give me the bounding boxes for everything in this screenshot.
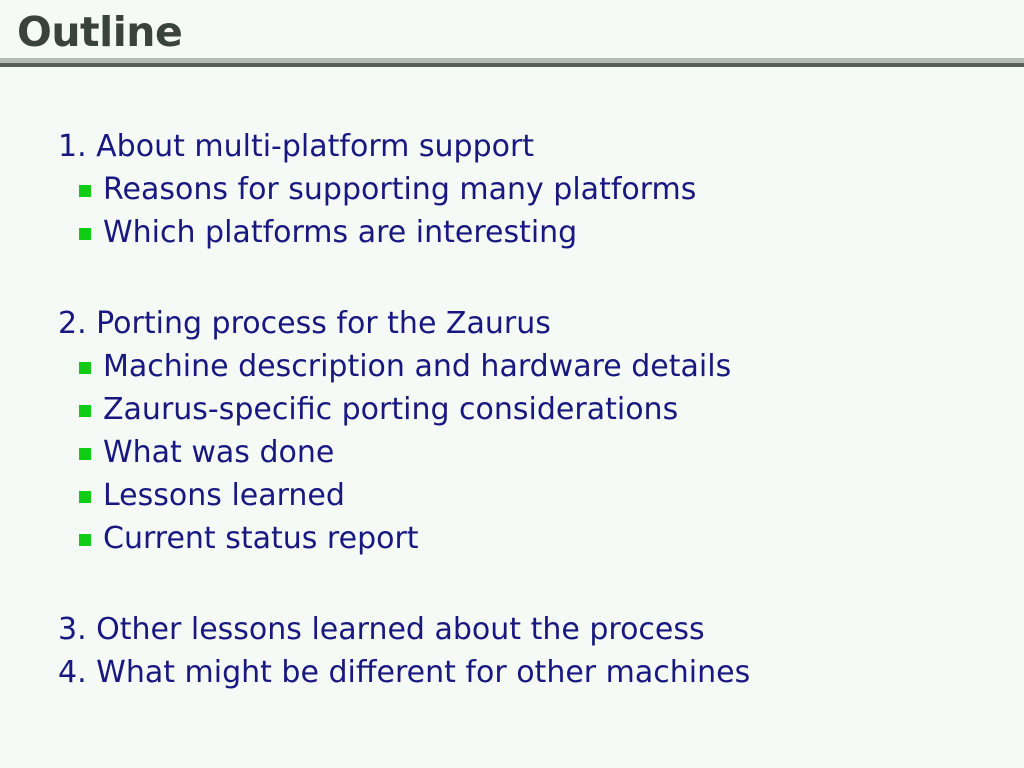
- outline-row: 2. Porting process for the Zaurus: [0, 305, 1024, 348]
- outline-subitem-2-1: Machine description and hardware details: [79, 348, 731, 386]
- outline-row: 4. What might be different for other mac…: [0, 654, 1024, 697]
- outline-subitem-label: Current status report: [103, 520, 419, 558]
- square-bullet-icon: [79, 185, 91, 197]
- outline-row: Which platforms are interesting: [0, 214, 1024, 257]
- square-bullet-icon: [79, 491, 91, 503]
- outline-item-1: 1. About multi-platform support: [58, 128, 534, 166]
- outline-row: Reasons for supporting many platforms: [0, 171, 1024, 214]
- outline-row: 3. Other lessons learned about the proce…: [0, 611, 1024, 654]
- outline-subitem-2-5: Current status report: [79, 520, 419, 558]
- outline-row: Lessons learned: [0, 477, 1024, 520]
- square-bullet-icon: [79, 534, 91, 546]
- square-bullet-icon: [79, 362, 91, 374]
- square-bullet-icon: [79, 448, 91, 460]
- slide: Outline 1. About multi-platform support …: [0, 0, 1024, 768]
- outline-row: Current status report: [0, 520, 1024, 563]
- outline-subitem-label: Zaurus-specific porting considerations: [103, 391, 678, 429]
- divider-dark-band: [0, 63, 1024, 67]
- outline-item-4: 4. What might be different for other mac…: [58, 654, 750, 692]
- section-gap: [0, 563, 1024, 611]
- outline-row: Zaurus-specific porting considerations: [0, 391, 1024, 434]
- outline-row: Machine description and hardware details: [0, 348, 1024, 391]
- square-bullet-icon: [79, 228, 91, 240]
- page-title: Outline: [17, 8, 182, 56]
- outline-subitem-label: Machine description and hardware details: [103, 348, 731, 386]
- outline-list: 1. About multi-platform support Reasons …: [0, 128, 1024, 697]
- outline-row: What was done: [0, 434, 1024, 477]
- outline-subitem-1-1: Reasons for supporting many platforms: [79, 171, 696, 209]
- title-divider: [0, 58, 1024, 67]
- outline-item-3: 3. Other lessons learned about the proce…: [58, 611, 705, 649]
- outline-item-2: 2. Porting process for the Zaurus: [58, 305, 551, 343]
- outline-subitem-2-3: What was done: [79, 434, 334, 472]
- outline-subitem-label: Which platforms are interesting: [103, 214, 577, 252]
- outline-row: 1. About multi-platform support: [0, 128, 1024, 171]
- outline-subitem-1-2: Which platforms are interesting: [79, 214, 577, 252]
- outline-subitem-label: Lessons learned: [103, 477, 345, 515]
- section-gap: [0, 257, 1024, 305]
- outline-subitem-label: What was done: [103, 434, 334, 472]
- outline-subitem-2-2: Zaurus-specific porting considerations: [79, 391, 678, 429]
- outline-subitem-label: Reasons for supporting many platforms: [103, 171, 696, 209]
- outline-subitem-2-4: Lessons learned: [79, 477, 345, 515]
- square-bullet-icon: [79, 405, 91, 417]
